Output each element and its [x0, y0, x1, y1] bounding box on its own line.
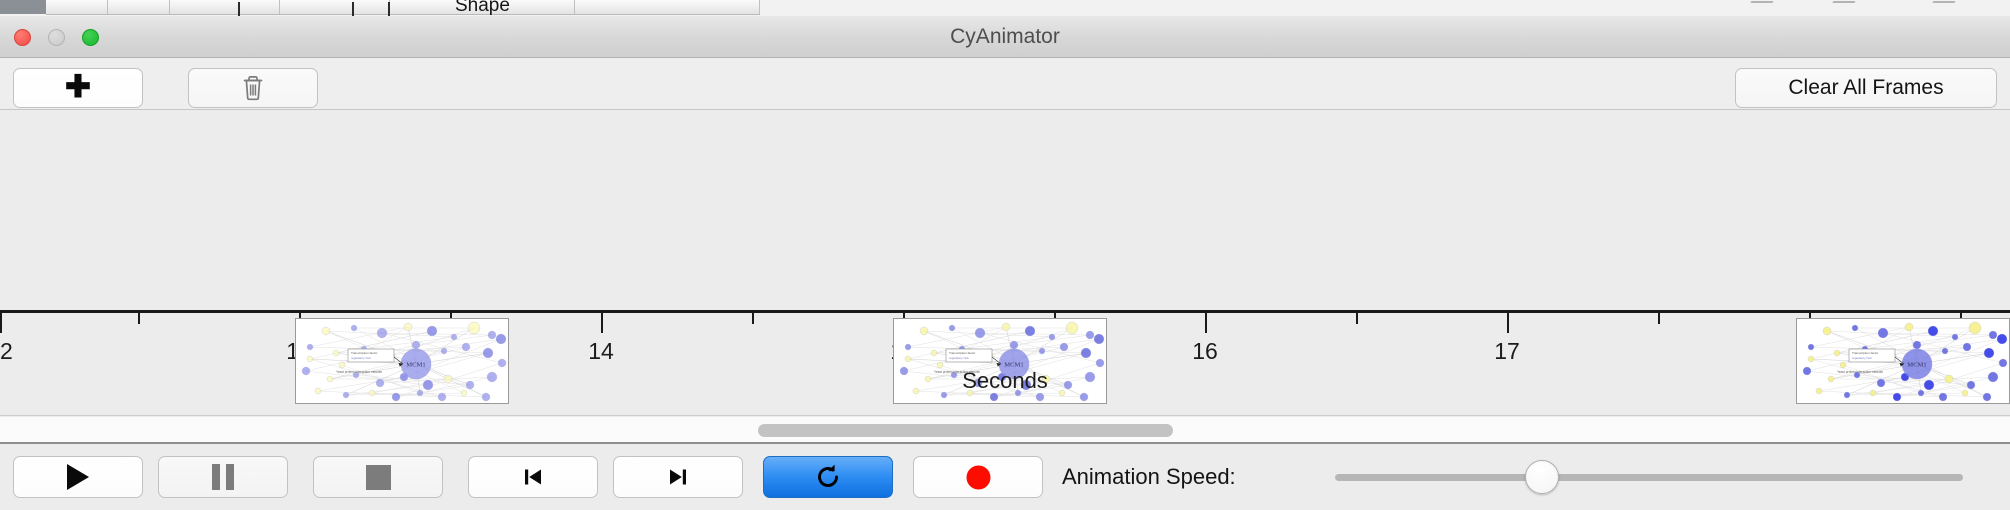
- background-chunk: [280, 0, 390, 15]
- loop-icon: [813, 462, 843, 492]
- background-chunk: [108, 0, 170, 15]
- background-chunk: [575, 0, 760, 15]
- timeline-frame-thumbnail[interactable]: MCM1 Transcription factor regulatory hub…: [295, 318, 517, 412]
- timeline-scrollbar[interactable]: [0, 417, 2010, 443]
- svg-text:regulatory hub: regulatory hub: [949, 356, 969, 360]
- background-dark-block: [0, 0, 46, 14]
- background-slant: [1745, 1, 1774, 14]
- animation-speed-slider[interactable]: [1335, 474, 1963, 481]
- background-slant: [1927, 1, 1956, 14]
- plus-icon: ✚: [65, 71, 91, 102]
- background-tick: [352, 2, 354, 16]
- add-frame-button[interactable]: ✚: [13, 68, 143, 108]
- timeline-axis: [0, 310, 2010, 313]
- timeline-frame-thumbnail[interactable]: MCM1 Transcription factor regulatory hub…: [1796, 318, 2010, 412]
- pause-icon: [212, 464, 234, 490]
- axis-tick-major: [601, 313, 603, 333]
- axis-tick-minor: [138, 313, 140, 324]
- cyanimator-window: Shape CyAnimator ✚ Clear All Frames 1213: [0, 0, 2010, 510]
- record-button[interactable]: [913, 456, 1043, 498]
- svg-text:Transcription factor: Transcription factor: [1852, 351, 1878, 355]
- background-chunk: [170, 0, 280, 15]
- slider-track[interactable]: [1335, 474, 1963, 481]
- skip-back-icon: [520, 464, 546, 490]
- axis-tick-minor: [1658, 313, 1660, 324]
- play-button[interactable]: [13, 456, 143, 498]
- play-icon: [67, 464, 89, 490]
- skip-to-end-button[interactable]: [613, 456, 743, 498]
- axis-tick-minor: [752, 313, 754, 324]
- pause-button[interactable]: [158, 456, 288, 498]
- scrollbar-thumb[interactable]: [758, 424, 1173, 437]
- record-icon: [965, 464, 992, 491]
- background-tick: [388, 2, 390, 16]
- axis-tick-major: [0, 313, 2, 333]
- axis-tick-label: 16: [1192, 338, 1218, 365]
- svg-text:Transcription factor: Transcription factor: [949, 351, 975, 355]
- loop-button[interactable]: [763, 456, 893, 498]
- clear-all-frames-button[interactable]: Clear All Frames: [1735, 68, 1997, 108]
- background-window-strip: Shape: [0, 0, 2010, 16]
- axis-tick-major: [1205, 313, 1207, 333]
- timeline-frame-thumbnail[interactable]: MCM1 Transcription factor regulatory hub…: [893, 318, 1115, 412]
- clear-all-frames-label: Clear All Frames: [1788, 76, 1943, 100]
- background-slant: [1827, 1, 1856, 14]
- background-tick: [238, 2, 240, 16]
- axis-tick-label: 14: [588, 338, 614, 365]
- trash-icon: [242, 75, 264, 101]
- axis-title: Seconds: [0, 368, 2010, 394]
- axis-tick-label: 17: [1494, 338, 1520, 365]
- stop-button[interactable]: [313, 456, 443, 498]
- window-title: CyAnimator: [0, 16, 2010, 58]
- frame-toolbar: ✚ Clear All Frames: [0, 58, 2010, 110]
- axis-tick-label: 12: [0, 338, 13, 365]
- delete-frame-button[interactable]: [188, 68, 318, 108]
- background-chunk: [46, 0, 108, 15]
- skip-forward-icon: [665, 464, 691, 490]
- title-bar[interactable]: CyAnimator: [0, 16, 2010, 58]
- svg-text:regulatory hub: regulatory hub: [351, 356, 371, 360]
- axis-tick-minor: [1356, 313, 1358, 324]
- skip-to-start-button[interactable]: [468, 456, 598, 498]
- slider-thumb[interactable]: [1525, 460, 1559, 494]
- stop-icon: [366, 465, 391, 490]
- svg-text:Transcription factor: Transcription factor: [351, 351, 377, 355]
- background-window-label: Shape: [455, 0, 510, 16]
- animation-speed-label: Animation Speed:: [1062, 456, 1236, 498]
- timeline-panel[interactable]: 12131415161718 MCM1 Transcription factor…: [0, 110, 2010, 416]
- svg-text:regulatory hub: regulatory hub: [1852, 356, 1872, 360]
- playback-bar: Animation Speed:: [0, 444, 2010, 510]
- axis-tick-major: [1507, 313, 1509, 333]
